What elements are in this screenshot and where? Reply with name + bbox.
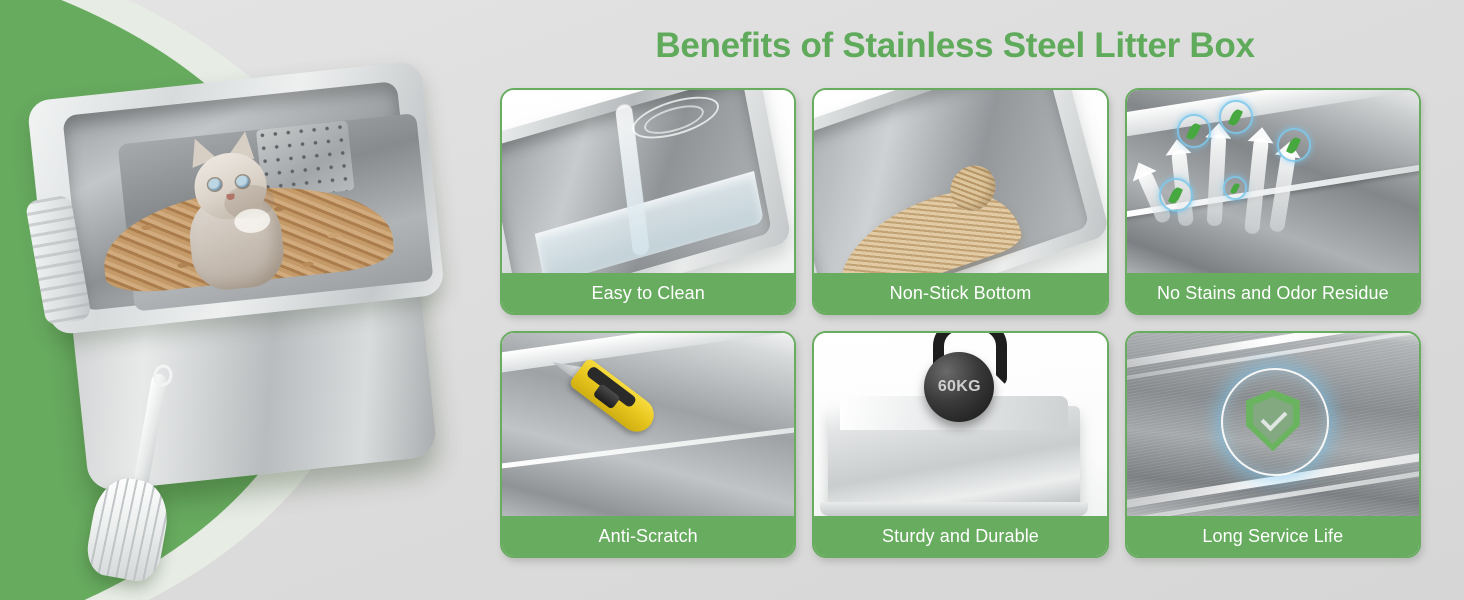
cat-illustration	[171, 128, 294, 290]
inverted-litter-box-foot	[820, 502, 1088, 516]
benefit-caption: Anti-Scratch	[502, 516, 794, 556]
benefit-image-long-service-life	[1127, 333, 1419, 516]
steel-pan-interior	[814, 90, 1090, 273]
airflow-arrow-icon	[1244, 137, 1269, 234]
kettlebell-weight-label: 60KG	[938, 378, 981, 396]
water-pool	[535, 171, 764, 273]
leaf-icon	[1230, 182, 1240, 194]
infographic-root: Benefits of Stainless Steel Litter Box E…	[0, 0, 1464, 600]
benefit-image-no-stains-and-odor-residue	[1127, 90, 1419, 273]
steel-pan-shape	[502, 90, 792, 273]
benefit-card-anti-scratch[interactable]: Anti-Scratch	[500, 331, 796, 558]
benefits-panel: Benefits of Stainless Steel Litter Box E…	[480, 0, 1464, 600]
benefit-caption: Non-Stick Bottom	[814, 273, 1106, 313]
scoop-handle	[132, 373, 168, 496]
kettlebell-icon: 60KG	[916, 333, 1002, 424]
steel-pan-shape	[814, 90, 1106, 273]
litter-box-rim	[27, 60, 445, 335]
benefit-card-easy-to-clean[interactable]: Easy to Clean	[500, 88, 796, 315]
benefit-image-non-stick-bottom	[814, 90, 1106, 273]
litter-box-illustration	[7, 39, 480, 551]
benefits-grid: Easy to Clean Non-Stick Bottom	[500, 88, 1421, 558]
leaf-badge-icon	[1159, 178, 1193, 212]
leaf-icon	[1286, 135, 1301, 154]
durability-illustration: 60KG	[814, 333, 1106, 516]
benefit-card-no-stains-and-odor-residue[interactable]: No Stains and Odor Residue	[1125, 88, 1421, 315]
benefit-caption: Long Service Life	[1127, 516, 1419, 556]
leaf-badge-icon	[1277, 128, 1311, 162]
brushed-steel-surface	[1127, 333, 1419, 516]
benefit-card-non-stick-bottom[interactable]: Non-Stick Bottom	[812, 88, 1108, 315]
benefit-image-easy-to-clean	[502, 90, 794, 273]
checkmark-icon	[1260, 405, 1287, 432]
leaf-icon	[1186, 121, 1201, 140]
leaf-badge-icon	[1177, 114, 1211, 148]
leaf-icon	[1228, 107, 1243, 126]
benefit-caption: Sturdy and Durable	[814, 516, 1106, 556]
benefit-card-long-service-life[interactable]: Long Service Life	[1125, 331, 1421, 558]
airflow-arrow-icon	[1206, 134, 1226, 227]
scoop-head	[83, 473, 173, 584]
leaf-badge-icon	[1219, 100, 1253, 134]
benefit-image-sturdy-and-durable: 60KG	[814, 333, 1106, 516]
benefit-card-sturdy-and-durable[interactable]: 60KG Sturdy and Durable	[812, 331, 1108, 558]
shield-inner	[1253, 397, 1293, 444]
steel-box-top-rim	[502, 333, 794, 376]
steel-box-interior	[502, 333, 794, 516]
benefit-caption: No Stains and Odor Residue	[1127, 273, 1419, 313]
page-title: Benefits of Stainless Steel Litter Box	[480, 26, 1430, 66]
benefit-image-anti-scratch	[502, 333, 794, 516]
benefit-caption: Easy to Clean	[502, 273, 794, 313]
leaf-badge-icon	[1223, 176, 1247, 200]
hero-product-image	[0, 0, 480, 600]
steel-box-interior	[1127, 90, 1419, 273]
kettlebell-ball: 60KG	[924, 352, 994, 422]
steel-pan-interior	[502, 90, 772, 273]
leaf-icon	[1168, 185, 1183, 204]
